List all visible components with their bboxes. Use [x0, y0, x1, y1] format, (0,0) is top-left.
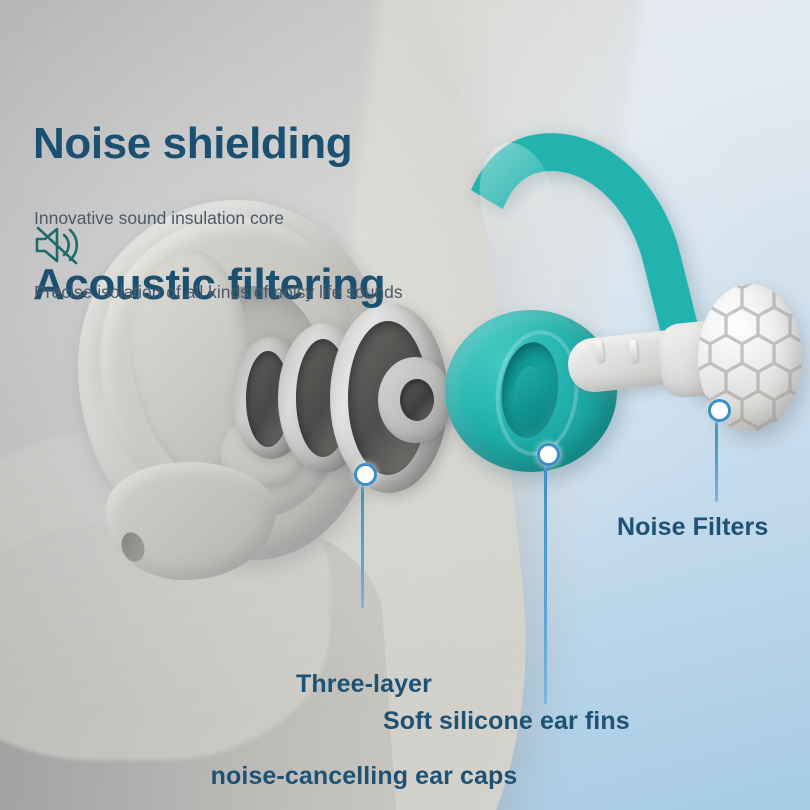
callout-dot-noise-filters — [708, 399, 731, 422]
ear-cap-sound-bore — [400, 379, 434, 421]
callout-label-ear-fins: Soft silicone ear fins — [383, 706, 630, 737]
mute-speaker-icon — [33, 222, 85, 268]
product-infographic: Three-layer noise-cancelling ear caps So… — [0, 0, 810, 810]
page-subtitle-line1: Innovative sound insulation core — [34, 206, 403, 231]
callout-line-ear-caps — [361, 480, 364, 608]
callout-line-ear-fins — [544, 460, 547, 704]
callout-label-ear-caps-line1: Three-layer — [164, 669, 564, 700]
page-subtitle: Innovative sound insulation core Precise… — [34, 156, 403, 355]
callout-label-noise-filters: Noise Filters — [617, 512, 768, 543]
callout-line-noise-filters — [715, 416, 718, 502]
callout-dot-ear-fins — [537, 443, 560, 466]
callout-label-ear-caps-line2: noise-cancelling ear caps — [164, 761, 564, 792]
page-subtitle-line2: Precise isolation of all kinds of noisy … — [34, 280, 403, 305]
callout-dot-ear-caps — [354, 463, 377, 486]
noise-filter-part — [568, 282, 798, 432]
